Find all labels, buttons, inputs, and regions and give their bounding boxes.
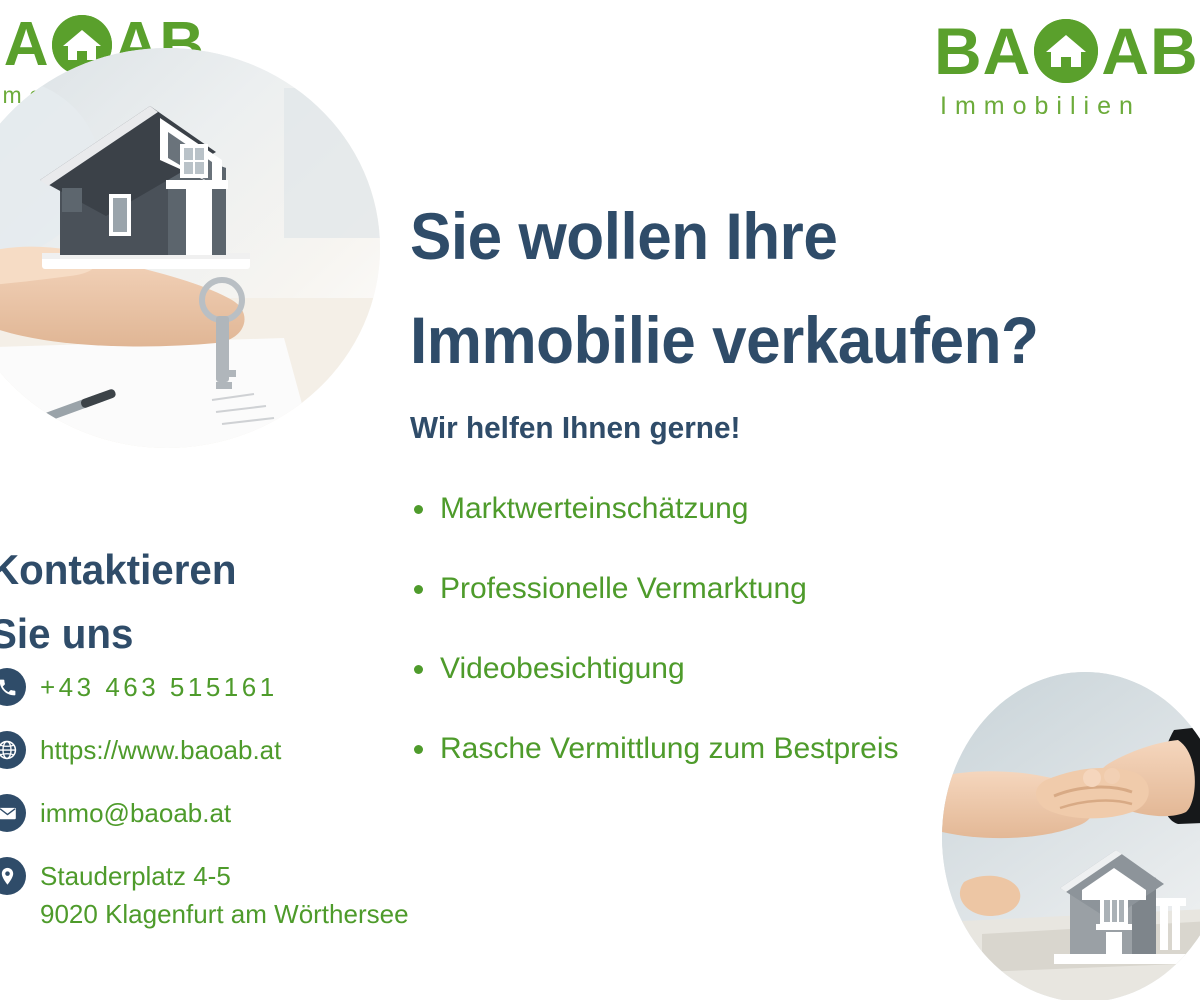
contact-phone[interactable]: +43 463 515161: [0, 668, 409, 708]
contact-email[interactable]: immo@baoab.at: [0, 794, 409, 834]
brand-name-part2: AB: [1101, 18, 1198, 84]
bullet-icon: [414, 505, 423, 514]
address-line-1: Stauderplatz 4-5: [40, 861, 231, 891]
contact-heading: Kontaktieren Sie uns: [0, 538, 236, 666]
contact-heading-line-2: Sie uns: [0, 602, 236, 666]
address-line-2: 9020 Klagenfurt am Wörthersee: [40, 895, 409, 933]
contact-list: +43 463 515161 https://www.baoab.at: [0, 668, 409, 956]
house-icon: [1034, 19, 1098, 83]
globe-icon: [0, 731, 26, 769]
benefit-label: Rasche Vermittlung zum Bestpreis: [440, 732, 899, 765]
advertisement-poster: BA AB Immobilien BA AB Immobilien: [0, 0, 1200, 1000]
bullet-icon: [414, 585, 423, 594]
brand-tagline: Immobilien: [940, 94, 1199, 119]
email-address: immo@baoab.at: [40, 794, 231, 832]
bullet-icon: [414, 745, 423, 754]
bullet-icon: [414, 665, 423, 674]
contact-address[interactable]: Stauderplatz 4-5 9020 Klagenfurt am Wört…: [0, 857, 409, 933]
brand-wordmark: BA AB: [934, 18, 1199, 84]
envelope-icon: [0, 794, 26, 832]
benefit-label: Marktwerteinschätzung: [440, 492, 748, 525]
brand-name-part1: BA: [934, 18, 1031, 84]
headline-line-2: Immobilie verkaufen?: [410, 288, 1153, 392]
contact-website[interactable]: https://www.baoab.at: [0, 731, 409, 771]
brand-name-part1: BA: [0, 14, 50, 76]
phone-number: +43 463 515161: [40, 668, 278, 706]
headline: Sie wollen Ihre Immobilie verkaufen?: [410, 184, 1200, 392]
benefit-label: Professionelle Vermarktung: [440, 572, 807, 605]
benefit-label: Videobesichtigung: [440, 652, 685, 685]
phone-icon: [0, 668, 26, 706]
headline-line-1: Sie wollen Ihre: [410, 184, 1153, 288]
list-item: Marktwerteinschätzung: [406, 490, 1166, 570]
list-item: Professionelle Vermarktung: [406, 570, 1166, 650]
brand-logo-top-right[interactable]: BA AB Immobilien: [934, 18, 1199, 119]
contact-heading-line-1: Kontaktieren: [0, 538, 236, 602]
subheadline: Wir helfen Ihnen gerne!: [410, 410, 740, 446]
street-address: Stauderplatz 4-5 9020 Klagenfurt am Wört…: [40, 857, 409, 933]
hand-holding-model-house-photo: [0, 48, 380, 448]
website-url: https://www.baoab.at: [40, 731, 281, 769]
location-pin-icon: [0, 857, 26, 895]
